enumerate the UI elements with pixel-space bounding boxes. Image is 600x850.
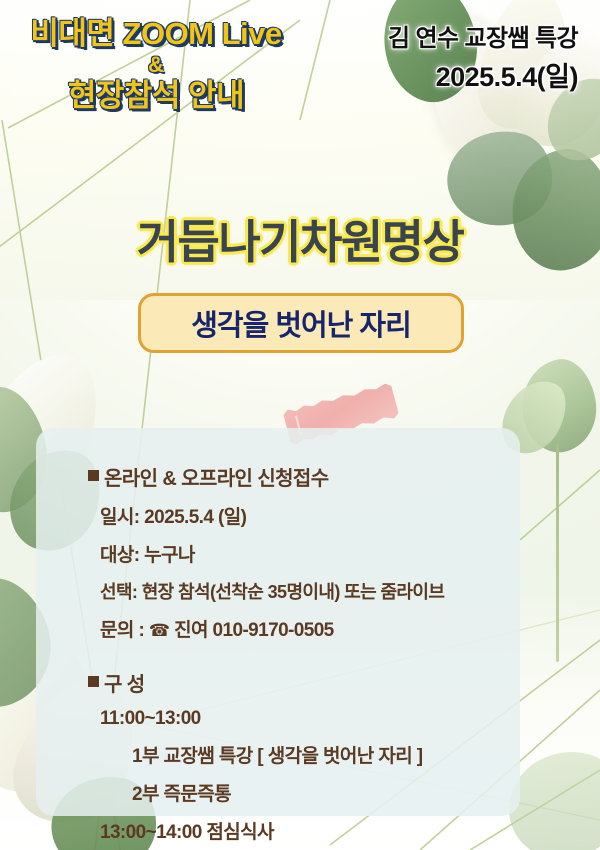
contact-value: 진여 010-9170-0505 <box>169 620 333 641</box>
registration-row-audience: 대상: 누구나 <box>88 540 502 567</box>
registration-row-contact: 문의 : ☎ 진여 010-9170-0505 <box>88 615 502 642</box>
program-row-part-2: 2부 즉문즉통 <box>88 779 502 806</box>
registration-row-date: 일시: 2025.5.4 (일) <box>88 502 502 529</box>
registration-heading: 온라인 & 오프라인 신청접수 <box>88 462 502 491</box>
subtitle-text: 생각을 벗어난 자리 <box>191 302 411 344</box>
poster-canvas: 비대면 ZOOM Live & 현장참석 안내 김 연수 교장쌤 특강 2025… <box>0 0 600 850</box>
program-section: 구 성 11:00~13:00 1부 교장쌤 특강 [ 생각을 벗어난 자리 ]… <box>88 668 502 850</box>
telephone-icon: ☎ <box>149 621 170 640</box>
square-bullet-icon <box>88 676 99 687</box>
page-title: 거듭나기차원명상 <box>0 206 600 272</box>
program-row-part-1: 1부 교장쌤 특강 [ 생각을 벗어난 자리 ] <box>88 741 502 768</box>
header-left-line3: 현장참석 안내 <box>26 80 286 113</box>
header-right: 김 연수 교장쌤 특강 2025.5.4(일) <box>388 26 578 92</box>
contact-label: 문의 : <box>100 620 149 641</box>
program-heading-text: 구 성 <box>104 668 145 697</box>
speaker-label: 김 연수 교장쌤 특강 <box>388 26 578 53</box>
subtitle-box: 생각을 벗어난 자리 <box>138 293 464 353</box>
info-card: 온라인 & 오프라인 신청접수 일시: 2025.5.4 (일) 대상: 누구나… <box>36 428 520 816</box>
program-row-time-1: 11:00~13:00 <box>88 708 502 730</box>
registration-heading-text: 온라인 & 오프라인 신청접수 <box>104 462 329 491</box>
square-bullet-icon <box>88 470 99 481</box>
registration-row-option: 선택: 현장 참석(선착순 35명이내) 또는 줌라이브 <box>88 578 502 604</box>
header-left: 비대면 ZOOM Live & 현장참석 안내 <box>26 18 286 113</box>
event-date: 2025.5.4(일) <box>388 62 578 92</box>
registration-section: 온라인 & 오프라인 신청접수 일시: 2025.5.4 (일) 대상: 누구나… <box>88 462 502 642</box>
header-left-ampersand: & <box>26 53 286 76</box>
header-left-line1: 비대면 ZOOM Live <box>26 18 286 51</box>
program-heading: 구 성 <box>88 668 502 697</box>
program-row-lunch: 13:00~14:00 점심식사 <box>88 817 502 844</box>
